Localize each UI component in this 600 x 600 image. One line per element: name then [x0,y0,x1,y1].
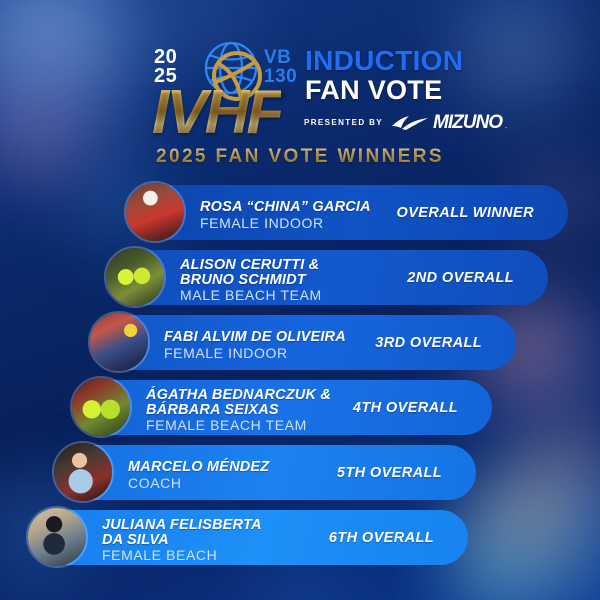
winner-rank-badge: 5TH OVERALL [337,465,442,481]
winner-rank-badge: 2ND OVERALL [407,270,514,286]
winner-category: FEMALE INDOOR [164,346,346,360]
winner-row[interactable]: ROSA “CHINA” GARCIAFEMALE INDOOROVERALL … [0,181,600,244]
winner-photo [106,248,164,306]
mizuno-logo: MIZUNO . [390,113,507,132]
winner-row[interactable]: ALISON CERUTTI &BRUNO SCHMIDTMALE BEACH … [0,246,600,309]
winner-category: MALE BEACH TEAM [180,288,322,302]
winner-rank-badge: 3RD OVERALL [375,335,482,351]
winner-row[interactable]: ÁGATHA BEDNARCZUK &BÁRBARA SEIXASFEMALE … [0,376,600,439]
winner-name: ALISON CERUTTI & [180,258,322,273]
winner-name: ÁGATHA BEDNARCZUK & [146,388,331,403]
fabi-alvim-de-oliveira-photo [88,311,150,373]
winner-name: ROSA “CHINA” GARCIA [200,200,371,215]
winner-photo [72,378,130,436]
juliana-felisberta-da-silva-photo [26,506,88,568]
winner-name: BÁRBARA SEIXAS [146,403,331,418]
presented-by-label: PRESENTED BY [304,118,383,127]
logo-vb: VB [264,48,297,67]
winner-name: BRUNO SCHMIDT [180,273,322,288]
winner-category: FEMALE BEACH [102,548,262,562]
winner-name-block: JULIANA FELISBERTADA SILVAFEMALE BEACH [102,518,262,562]
winner-name-block: FABI ALVIM DE OLIVEIRAFEMALE INDOOR [164,330,346,360]
winner-name-block: ALISON CERUTTI &BRUNO SCHMIDTMALE BEACH … [180,258,322,302]
winner-name: JULIANA FELISBERTA [102,518,262,533]
ivhf-wordmark: IVHF [152,82,281,144]
title-fan-vote: FAN VOTE [305,76,535,105]
winner-name-block: ROSA “CHINA” GARCIAFEMALE INDOOR [200,200,371,230]
winner-category: FEMALE INDOOR [200,216,371,230]
winner-name: MARCELO MÉNDEZ [128,460,269,475]
mizuno-bird-icon [390,115,430,131]
winner-category: COACH [128,476,269,490]
rosa-china-garcia-photo [124,181,186,243]
winner-rank-badge: 4TH OVERALL [353,400,458,416]
alison-cerutti-bruno-schmidt-photo [104,246,166,308]
subtitle-fan-vote-winners: 2025 FAN VOTE WINNERS [0,146,600,168]
winner-photo [54,443,112,501]
mizuno-registered-mark: . [505,121,507,132]
marcelo-mendez-photo [52,441,114,503]
header-title-block: INDUCTION FAN VOTE [305,46,535,105]
winners-list: ROSA “CHINA” GARCIAFEMALE INDOOROVERALL … [0,181,600,571]
winner-photo [126,183,184,241]
mizuno-wordmark: MIZUNO [433,113,502,132]
agatha-bednarczuk-barbara-seixas-photo [70,376,132,438]
winner-name: DA SILVA [102,533,262,548]
winner-photo [90,313,148,371]
winner-name: FABI ALVIM DE OLIVEIRA [164,330,346,345]
winner-row[interactable]: MARCELO MÉNDEZCOACH5TH OVERALL [0,441,600,504]
ivhf-logo: 20 25 VB 130 [152,36,312,142]
winner-rank-badge: OVERALL WINNER [397,205,534,221]
header: 20 25 VB 130 [0,0,600,176]
winner-name-block: MARCELO MÉNDEZCOACH [128,460,269,490]
winner-name-block: ÁGATHA BEDNARCZUK &BÁRBARA SEIXASFEMALE … [146,388,331,432]
title-induction: INDUCTION [305,46,535,75]
winner-category: FEMALE BEACH TEAM [146,418,331,432]
winner-row[interactable]: FABI ALVIM DE OLIVEIRAFEMALE INDOOR3RD O… [0,311,600,374]
sponsor-block: PRESENTED BY MIZUNO . [304,113,507,132]
winner-rank-badge: 6TH OVERALL [329,530,434,546]
winner-row[interactable]: JULIANA FELISBERTADA SILVAFEMALE BEACH6T… [0,506,600,569]
winner-photo [28,508,86,566]
